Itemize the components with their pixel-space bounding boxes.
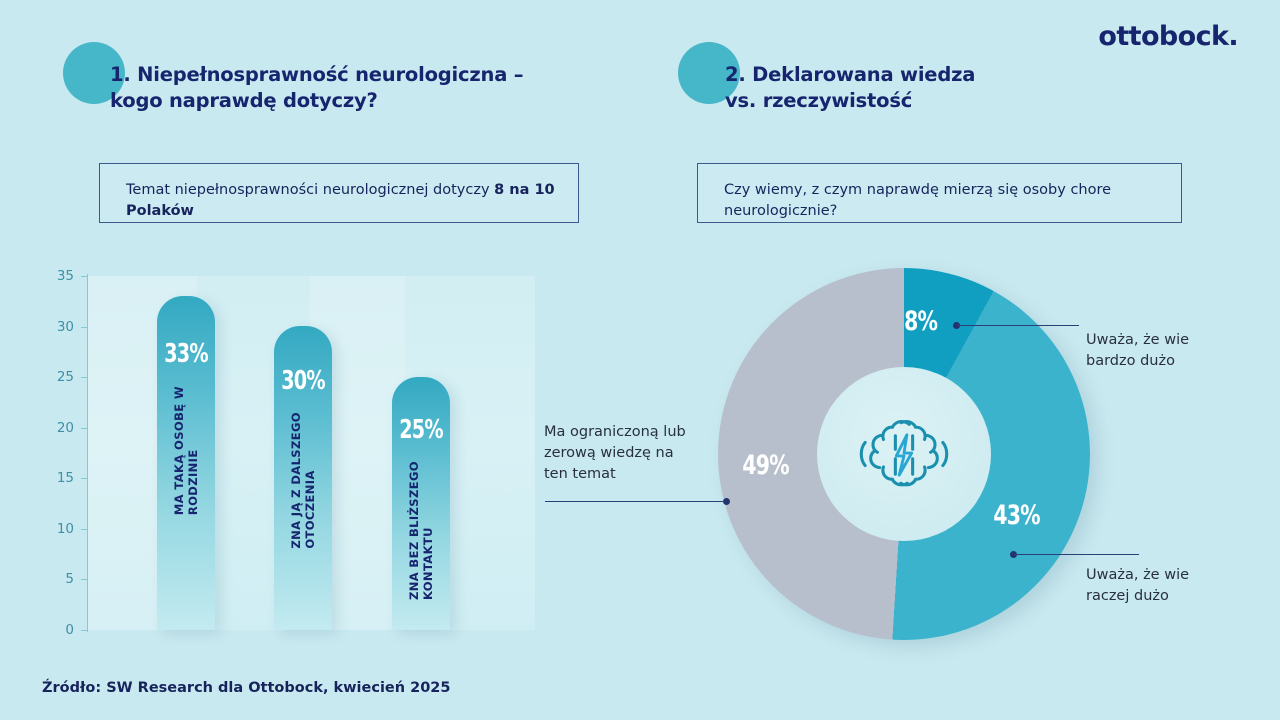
y-tick-label-35: 35 <box>42 268 74 284</box>
y-tick-label-25: 25 <box>42 369 74 385</box>
anno-43: Uważa, że wie raczej dużo <box>1086 565 1266 607</box>
section-title-1: 1. Niepełnosprawność neurologiczna – kog… <box>110 42 583 114</box>
callout-1-lead: Temat niepełnosprawności neurologicznej … <box>126 182 494 198</box>
bar-chart: 35 30 25 20 15 10 5 0 33% MA TAKĄ OSOBĘ … <box>42 266 542 646</box>
anno-49: Ma ograniczoną lub zerową wiedzę na ten … <box>544 422 734 485</box>
y-tick-label-10: 10 <box>42 521 74 537</box>
bar-1: 33% MA TAKĄ OSOBĘ W RODZINIE <box>157 296 215 630</box>
donut-label-8: 8% <box>904 306 937 337</box>
donut-label-49: 49% <box>742 450 788 481</box>
donut-chart: 8% 43% 49% <box>718 268 1090 640</box>
bar-3: 25% ZNA BEZ BLIŻSZEGO KONTAKTU <box>392 377 450 630</box>
y-tick-label-0: 0 <box>42 622 74 638</box>
section-number-2: 2. <box>725 63 746 86</box>
bar-3-value: 25% <box>397 415 445 445</box>
y-axis-line <box>87 274 88 632</box>
callout-box-1: Temat niepełnosprawności neurologicznej … <box>99 163 579 223</box>
callout-2-lead: Czy wiemy, z czym naprawdę mierzą się os… <box>724 182 1111 219</box>
bar-1-category: MA TAKĄ OSOBĘ W RODZINIE <box>172 386 200 515</box>
section-title-text-1: Niepełnosprawność neurologiczna – kogo n… <box>110 63 523 112</box>
infographic-canvas: ottobock. 1. Niepełnosprawność neurologi… <box>0 0 1280 720</box>
leader-line-8 <box>957 325 1079 326</box>
callout-box-2: Czy wiemy, z czym naprawdę mierzą się os… <box>697 163 1182 223</box>
bar-2-value: 30% <box>279 366 327 396</box>
section-title-text-2: Deklarowana wiedza vs. rzeczywistość <box>725 63 975 112</box>
section-number-1: 1. <box>110 63 131 86</box>
leader-line-49 <box>545 501 725 502</box>
bar-2-category: ZNA JĄ Z DALSZEGO OTOCZENIA <box>289 412 317 549</box>
bar-3-category: ZNA BEZ BLIŻSZEGO KONTAKTU <box>407 461 435 600</box>
y-tick-label-5: 5 <box>42 571 74 587</box>
source-note: Źródło: SW Research dla Ottobock, kwieci… <box>42 680 451 696</box>
y-tick-label-15: 15 <box>42 470 74 486</box>
section-heading-1: 1. Niepełnosprawność neurologiczna – kog… <box>63 42 583 114</box>
y-tick-label-30: 30 <box>42 319 74 335</box>
bar-2: 30% ZNA JĄ Z DALSZEGO OTOCZENIA <box>274 326 332 630</box>
section-heading-2: 2. Deklarowana wiedza vs. rzeczywistość <box>678 42 1098 114</box>
y-tick-label-20: 20 <box>42 420 74 436</box>
donut-label-43: 43% <box>993 500 1039 531</box>
bar-1-value: 33% <box>162 339 210 369</box>
section-title-2: 2. Deklarowana wiedza vs. rzeczywistość <box>725 42 1098 114</box>
ottobock-logo: ottobock. <box>1098 21 1238 52</box>
anno-8: Uważa, że wie bardzo dużo <box>1086 330 1266 372</box>
leader-line-43 <box>1014 554 1139 555</box>
brain-icon <box>856 406 952 502</box>
